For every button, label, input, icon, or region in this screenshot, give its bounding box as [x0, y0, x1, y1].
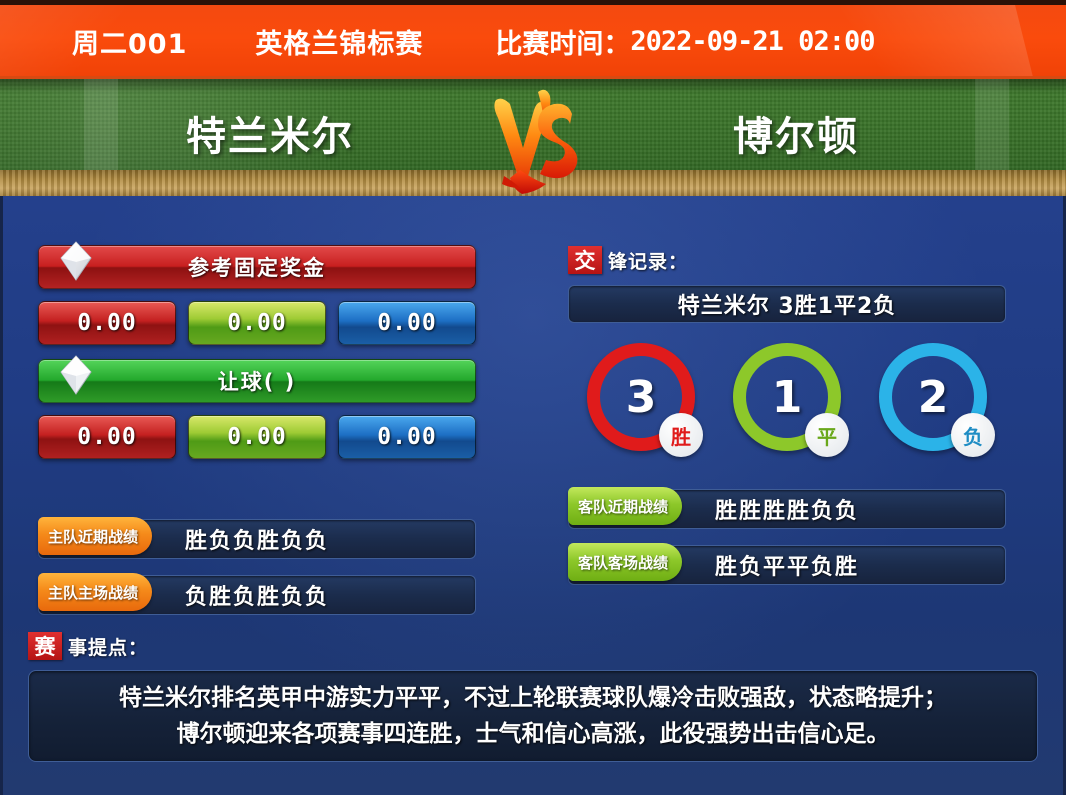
away-team-name: 博尔顿 [646, 104, 946, 162]
match-preview-card: 周二001 英格兰锦标赛 比赛时间： 2022-09-21 02:00 特兰米尔… [0, 0, 1066, 802]
h2h-summary-text: 特兰米尔 3胜1平2负 [678, 288, 897, 320]
away-venue-form-value: 胜负平平负胜 [715, 549, 859, 581]
analysis-panel: 赛 事提点： 特兰米尔排名英甲中游实力平平，不过上轮联赛球队爆冷击败强敌，状态略… [28, 630, 1038, 762]
handicap-odd-win[interactable]: 0.00 [38, 415, 176, 459]
fixed-odd-lose-value: 0.00 [377, 310, 436, 336]
home-team-name: 特兰米尔 [120, 104, 420, 162]
h2h-stats-rings: 3 胜 1 平 2 负 [568, 343, 1006, 473]
home-recent-form-value: 胜负负胜负负 [185, 523, 329, 555]
league-name: 英格兰锦标赛 [255, 22, 423, 61]
fixed-odd-draw[interactable]: 0.00 [188, 301, 326, 345]
diamond-gem-icon [53, 238, 99, 284]
lose-ring-label: 负 [951, 413, 995, 457]
away-recent-form-row: 胜胜胜胜负负 客队近期战绩 [568, 489, 1006, 529]
h2h-badge: 交 [568, 246, 602, 274]
handicap-title: 让球( ) [218, 366, 297, 396]
home-recent-form-label: 主队近期战绩 [38, 517, 152, 555]
diamond-gem-icon [53, 352, 99, 398]
fixed-odd-lose[interactable]: 0.00 [338, 301, 476, 345]
match-round: 周二001 [72, 22, 187, 61]
analysis-line: 博尔顿迎来各项赛事四连胜，士气和信心高涨，此役强势出击信心足。 [177, 716, 890, 752]
home-venue-form-label: 主队主场战绩 [38, 573, 152, 611]
h2h-draw-ring: 1 平 [733, 343, 841, 451]
draw-ring-label: 平 [805, 413, 849, 457]
fixed-odd-draw-value: 0.00 [227, 310, 286, 336]
handicap-odd-draw[interactable]: 0.00 [188, 415, 326, 459]
analysis-badge: 赛 [28, 632, 62, 660]
fixed-odds-title-bar: 参考固定奖金 [38, 245, 476, 289]
handicap-odd-lose-value: 0.00 [377, 424, 436, 450]
away-venue-form-label: 客队客场战绩 [568, 543, 682, 581]
h2h-heading: 交 锋记录： [568, 245, 1006, 275]
match-time-label: 比赛时间： [495, 22, 630, 61]
h2h-win-ring: 3 胜 [587, 343, 695, 451]
analysis-heading: 赛 事提点： [28, 630, 1038, 662]
home-venue-form-value: 负胜负胜负负 [185, 579, 329, 611]
handicap-odds-row: 0.00 0.00 0.00 [38, 415, 476, 459]
h2h-panel: 交 锋记录： 特兰米尔 3胜1平2负 3 胜 1 平 2 负 [568, 245, 1006, 585]
fixed-odds-title: 参考固定奖金 [188, 252, 326, 282]
home-venue-form-row: 负胜负胜负负 主队主场战绩 [38, 575, 476, 615]
flame-vs-icon [476, 84, 592, 196]
fixed-odd-win[interactable]: 0.00 [38, 301, 176, 345]
match-header-bar: 周二001 英格兰锦标赛 比赛时间： 2022-09-21 02:00 [0, 5, 1066, 78]
fixed-odd-win-value: 0.00 [77, 310, 136, 336]
away-recent-form-label: 客队近期战绩 [568, 487, 682, 525]
away-recent-form-value: 胜胜胜胜负负 [715, 493, 859, 525]
away-venue-form-row: 胜负平平负胜 客队客场战绩 [568, 545, 1006, 585]
handicap-odd-win-value: 0.00 [77, 424, 136, 450]
h2h-title: 锋记录： [608, 247, 688, 274]
analysis-title: 事提点： [68, 633, 148, 660]
win-ring-label: 胜 [659, 413, 703, 457]
handicap-odd-lose[interactable]: 0.00 [338, 415, 476, 459]
analysis-line: 特兰米尔排名英甲中游实力平平，不过上轮联赛球队爆冷击败强敌，状态略提升； [119, 680, 947, 716]
analysis-text-box: 特兰米尔排名英甲中游实力平平，不过上轮联赛球队爆冷击败强敌，状态略提升； 博尔顿… [28, 670, 1038, 762]
handicap-title-bar: 让球( ) [38, 359, 476, 403]
h2h-lose-ring: 2 负 [879, 343, 987, 451]
home-recent-form-row: 胜负负胜负负 主队近期战绩 [38, 519, 476, 559]
fixed-odds-row: 0.00 0.00 0.00 [38, 301, 476, 345]
h2h-summary-bar: 特兰米尔 3胜1平2负 [568, 285, 1006, 323]
handicap-odd-draw-value: 0.00 [227, 424, 286, 450]
match-time-value: 2022-09-21 02:00 [630, 26, 874, 57]
odds-panel: 参考固定奖金 0.00 0.00 0.00 让球( ) 0.00 0.00 0.… [38, 245, 476, 615]
bottom-edge [0, 795, 1066, 802]
